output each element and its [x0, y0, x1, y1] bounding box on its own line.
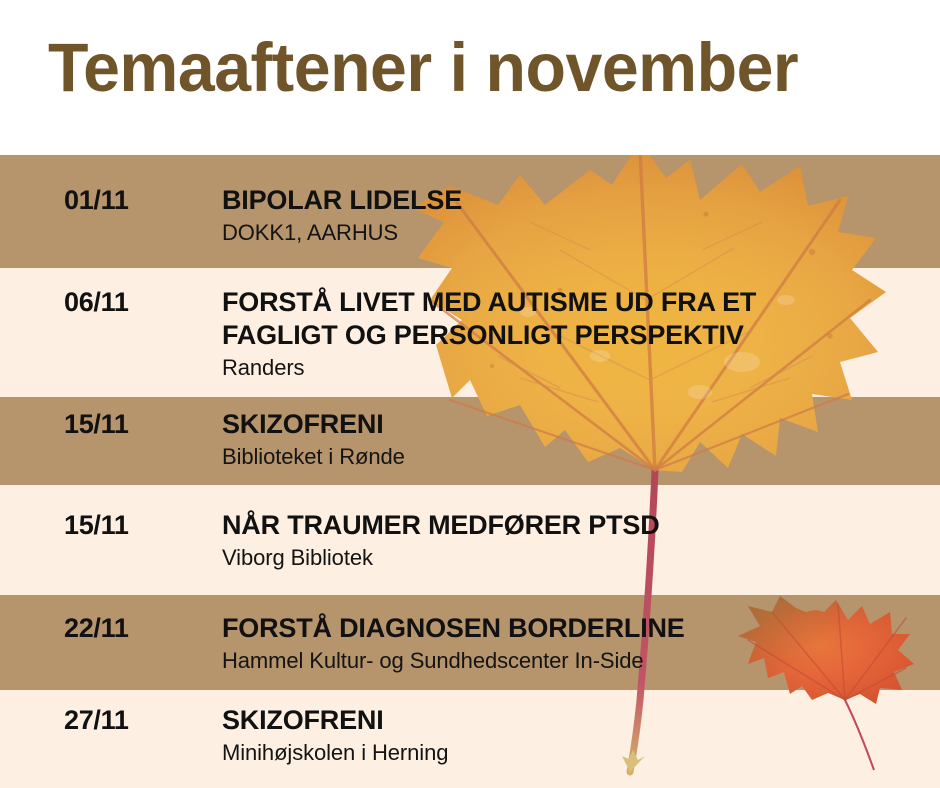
event-body: FORSTÅ LIVET MED AUTISME UD FRA ET FAGLI…: [222, 286, 922, 382]
event-title: SKIZOFRENI: [222, 704, 922, 737]
event-row: 15/11 SKIZOFRENI Biblioteket i Rønde: [0, 397, 940, 485]
event-venue: Randers: [222, 353, 922, 382]
event-venue: Viborg Bibliotek: [222, 543, 922, 572]
event-venue: Minihøjskolen i Herning: [222, 738, 922, 767]
event-date: 15/11: [64, 510, 129, 541]
title-area: Temaaftener i november: [0, 0, 940, 155]
event-title: SKIZOFRENI: [222, 408, 922, 441]
event-date: 27/11: [64, 705, 129, 736]
event-date: 15/11: [64, 409, 129, 440]
event-venue: Biblioteket i Rønde: [222, 442, 922, 471]
event-body: FORSTÅ DIAGNOSEN BORDERLINE Hammel Kultu…: [222, 612, 922, 675]
event-row: 15/11 NÅR TRAUMER MEDFØRER PTSD Viborg B…: [0, 485, 940, 595]
event-row: 22/11 FORSTÅ DIAGNOSEN BORDERLINE Hammel…: [0, 595, 940, 690]
event-body: SKIZOFRENI Minihøjskolen i Herning: [222, 704, 922, 767]
event-title: NÅR TRAUMER MEDFØRER PTSD: [222, 509, 922, 542]
event-title: FORSTÅ DIAGNOSEN BORDERLINE: [222, 612, 922, 645]
event-venue: DOKK1, AARHUS: [222, 218, 922, 247]
poster-canvas: Temaaftener i november 01/11 BIPOLAR LID…: [0, 0, 940, 788]
event-date: 06/11: [64, 287, 129, 318]
event-row: 01/11 BIPOLAR LIDELSE DOKK1, AARHUS: [0, 155, 940, 268]
event-body: BIPOLAR LIDELSE DOKK1, AARHUS: [222, 184, 922, 247]
page-title: Temaaftener i november: [48, 26, 798, 110]
event-title: BIPOLAR LIDELSE: [222, 184, 922, 217]
event-row: 06/11 FORSTÅ LIVET MED AUTISME UD FRA ET…: [0, 268, 940, 397]
event-venue: Hammel Kultur- og Sundhedscenter In-Side: [222, 646, 922, 675]
event-body: NÅR TRAUMER MEDFØRER PTSD Viborg Bibliot…: [222, 509, 922, 572]
event-date: 22/11: [64, 613, 129, 644]
event-date: 01/11: [64, 185, 129, 216]
event-row: 27/11 SKIZOFRENI Minihøjskolen i Herning: [0, 690, 940, 788]
event-body: SKIZOFRENI Biblioteket i Rønde: [222, 408, 922, 471]
event-title: FORSTÅ LIVET MED AUTISME UD FRA ET FAGLI…: [222, 286, 922, 352]
